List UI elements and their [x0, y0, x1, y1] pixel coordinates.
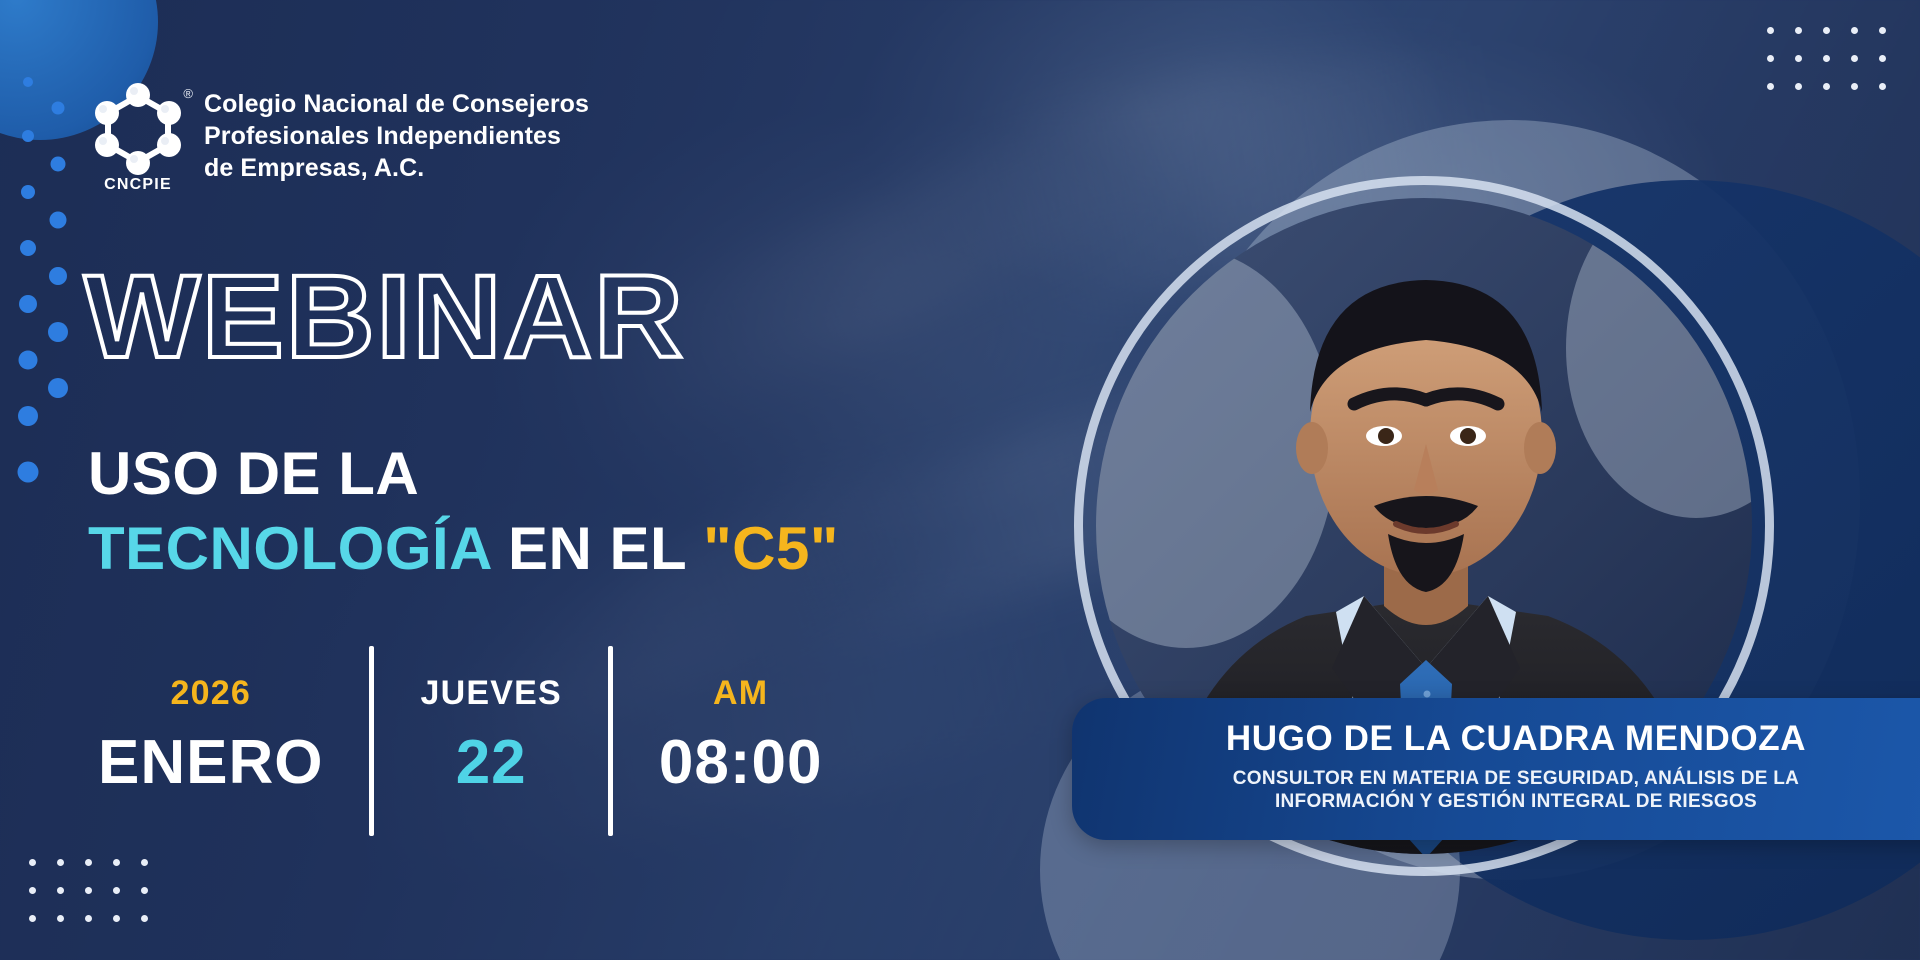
event-month: ENERO	[98, 727, 323, 798]
speaker-nameplate: HUGO DE LA CUADRA MENDOZA CONSULTOR EN M…	[1072, 698, 1920, 840]
dot	[29, 887, 36, 894]
dot	[85, 887, 92, 894]
molecule-hexagon-icon: ® CNCPIE	[86, 80, 190, 192]
event-meridiem: AM	[713, 674, 768, 713]
speaker-role-line-1: CONSULTOR EN MATERIA DE SEGURIDAD, ANÁLI…	[1233, 768, 1799, 789]
dot	[141, 859, 148, 866]
event-datetime-bar: 2026 ENERO JUEVES 22 AM 08:00	[84, 620, 868, 852]
event-year: 2026	[171, 674, 251, 713]
speaker-composition: HUGO DE LA CUADRA MENDOZA CONSULTOR EN M…	[1020, 0, 1920, 960]
dot	[141, 915, 148, 922]
event-cell-day: JUEVES 22	[374, 620, 607, 852]
dot	[29, 859, 36, 866]
dot	[85, 915, 92, 922]
subtitle-keyword-c5: "C5"	[703, 515, 839, 582]
dot	[29, 915, 36, 922]
registered-mark-icon: ®	[183, 86, 193, 101]
dot	[57, 887, 64, 894]
speaker-name: HUGO DE LA CUADRA MENDOZA	[1118, 720, 1914, 759]
subtitle-line-2-connector: EN EL	[508, 515, 686, 582]
dot	[85, 859, 92, 866]
event-day-number: 22	[456, 727, 527, 798]
dot	[113, 859, 120, 866]
organization-name: Colegio Nacional de Consejeros Profesion…	[204, 88, 589, 184]
page-title: WEBINAR	[84, 258, 685, 376]
dot	[57, 915, 64, 922]
event-cell-time: AM 08:00	[613, 620, 869, 852]
dot-column-decoration	[10, 64, 80, 594]
dot	[113, 915, 120, 922]
logo-abbreviation: CNCPIE	[86, 176, 190, 194]
subtitle-keyword-tecnologia: TECNOLOGÍA	[88, 515, 491, 582]
speaker-role: CONSULTOR EN MATERIA DE SEGURIDAD, ANÁLI…	[1118, 767, 1914, 815]
subtitle-line-1: USO DE LA	[88, 440, 419, 507]
dot	[141, 887, 148, 894]
dot	[57, 859, 64, 866]
dot-grid-bottom-left	[18, 848, 158, 932]
event-cell-month: 2026 ENERO	[84, 620, 369, 852]
dot	[113, 887, 120, 894]
speaker-role-line-2: INFORMACIÓN Y GESTIÓN INTEGRAL DE RIESGO…	[1275, 791, 1757, 812]
webinar-poster: ® CNCPIE Colegio Nacional de Consejeros …	[0, 0, 1920, 960]
event-time: 08:00	[659, 727, 823, 798]
event-weekday: JUEVES	[420, 674, 561, 713]
brand-logo: ® CNCPIE Colegio Nacional de Consejeros …	[86, 80, 589, 192]
subtitle: USO DE LA TECNOLOGÍA EN EL "C5"	[88, 440, 839, 582]
